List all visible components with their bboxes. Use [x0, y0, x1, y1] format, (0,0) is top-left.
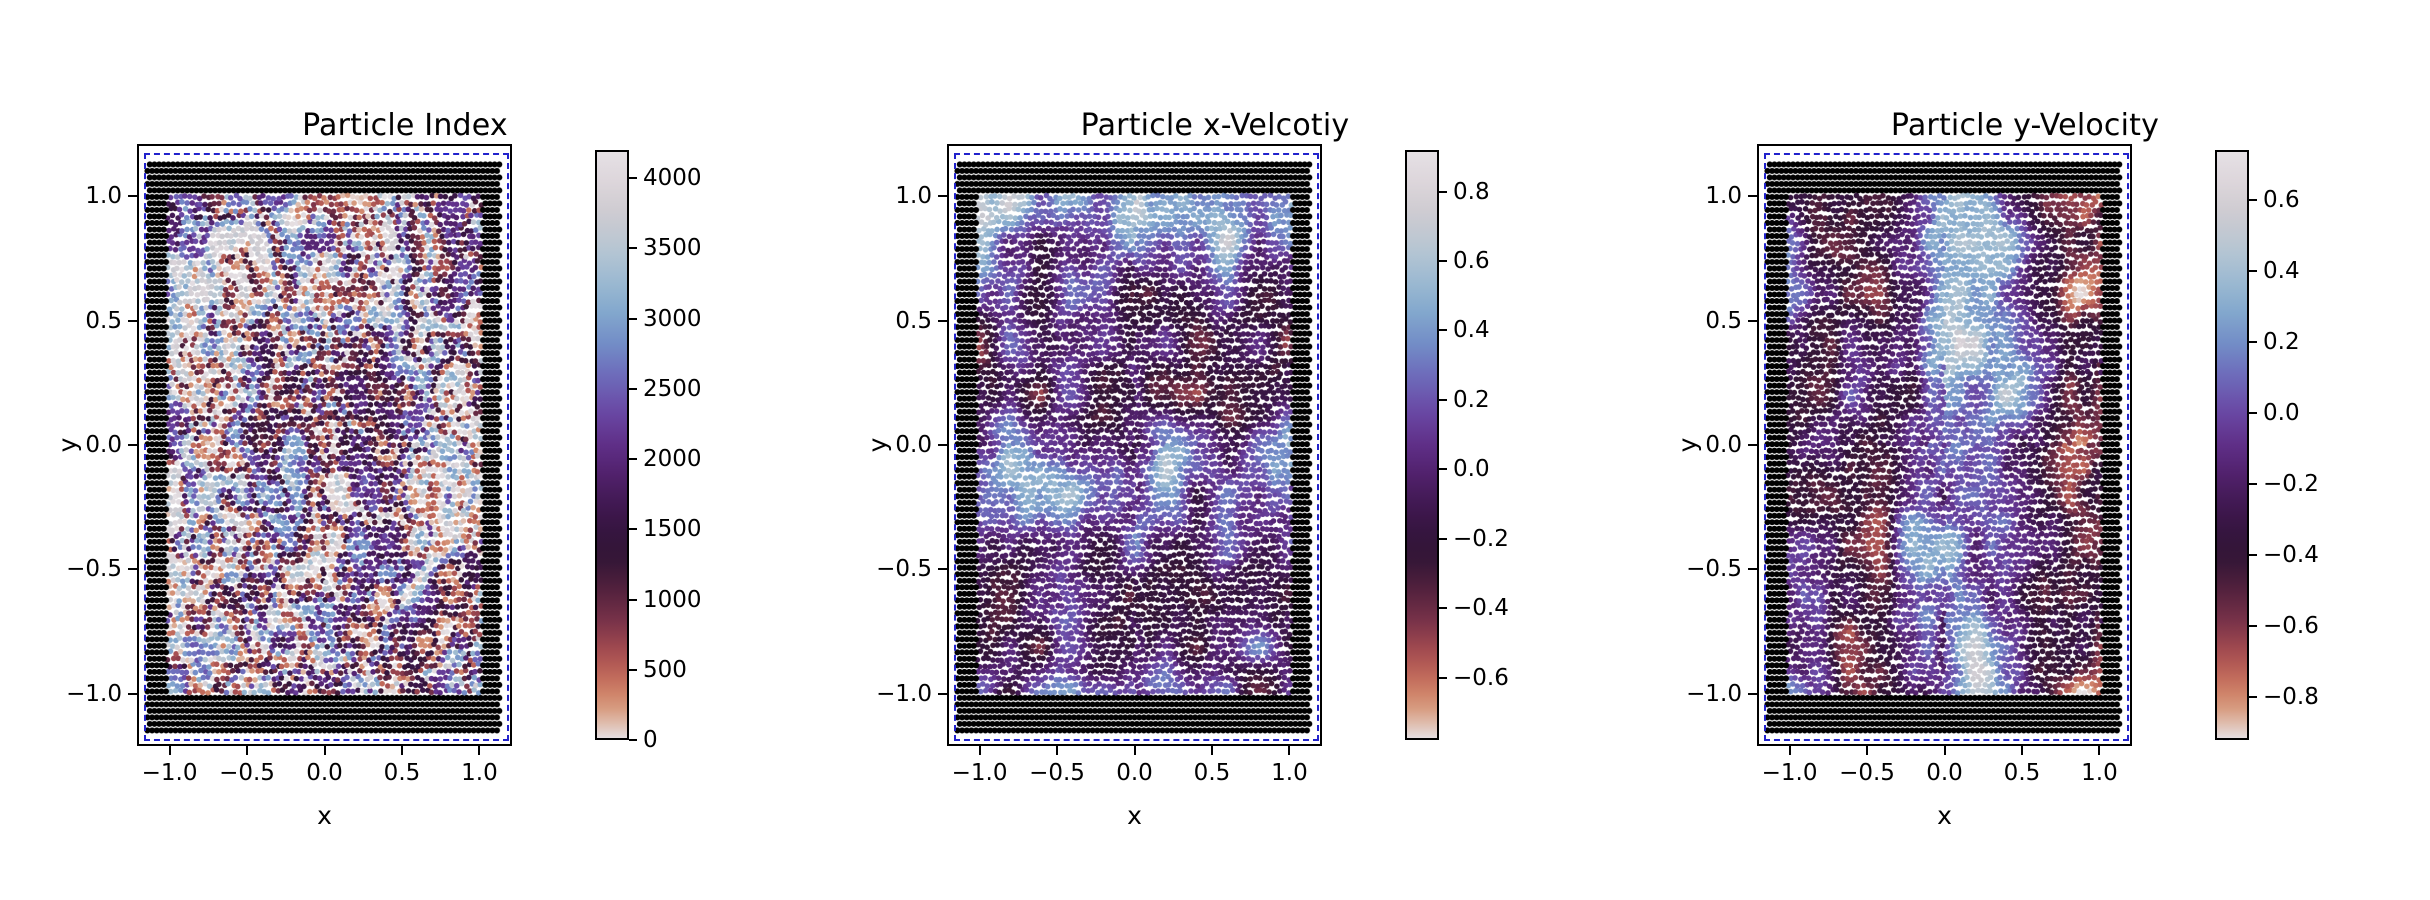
y-tick-mark [1748, 320, 1757, 322]
y-tick-label: 0.5 [1705, 308, 1742, 334]
x-tick-mark [1789, 746, 1791, 755]
y-tick-mark [938, 195, 947, 197]
particle-scatter [139, 146, 510, 744]
subplot-title: Particle y-Velocity [1620, 108, 2430, 143]
colorbar-tick-label: 3500 [643, 235, 702, 261]
subplot-2: Particle x-Velcotiy−1.0−0.50.00.51.0−1.0… [810, 0, 1620, 900]
x-tick-label: 1.0 [461, 760, 498, 786]
colorbar-tick-mark [629, 528, 637, 530]
y-tick-mark [1748, 568, 1757, 570]
colorbar-tick-mark [2249, 696, 2257, 698]
axes-area [1757, 144, 2132, 746]
x-tick-mark [324, 746, 326, 755]
colorbar-gradient [1407, 152, 1437, 738]
x-tick-label: −1.0 [952, 760, 1008, 786]
y-tick-mark [128, 320, 137, 322]
y-tick-mark [128, 568, 137, 570]
colorbar [2215, 150, 2249, 740]
y-tick-label: −1.0 [876, 681, 932, 707]
matplotlib-figure: Particle Index−1.0−0.50.00.51.0−1.0−0.50… [0, 0, 2430, 900]
colorbar-tick-mark [1439, 399, 1447, 401]
x-tick-mark [1944, 746, 1946, 755]
colorbar-tick-mark [629, 739, 637, 741]
y-axis-label: y [1673, 438, 1702, 453]
x-tick-label: 0.5 [384, 760, 421, 786]
y-tick-label: −0.5 [66, 556, 122, 582]
x-axis-label: x [1937, 801, 1952, 830]
x-tick-mark [246, 746, 248, 755]
x-tick-mark [1134, 746, 1136, 755]
colorbar-tick-label: 2000 [643, 446, 702, 472]
x-tick-mark [1866, 746, 1868, 755]
y-tick-label: −1.0 [66, 681, 122, 707]
y-tick-label: 1.0 [1705, 183, 1742, 209]
y-tick-mark [938, 568, 947, 570]
colorbar-tick-label: −0.2 [1453, 526, 1509, 552]
y-tick-label: −1.0 [1686, 681, 1742, 707]
colorbar-gradient [597, 152, 627, 738]
colorbar-tick-mark [2249, 483, 2257, 485]
y-tick-mark [938, 320, 947, 322]
y-axis-label: y [863, 438, 892, 453]
colorbar-tick-mark [2249, 412, 2257, 414]
subplot-title: Particle Index [0, 108, 810, 143]
x-tick-label: 0.0 [306, 760, 343, 786]
colorbar-tick-mark [1439, 538, 1447, 540]
colorbar-tick-label: 4000 [643, 165, 702, 191]
x-tick-mark [169, 746, 171, 755]
y-axis-label: y [53, 438, 82, 453]
colorbar-tick-mark [2249, 554, 2257, 556]
colorbar-tick-mark [1439, 677, 1447, 679]
particle-scatter [1759, 146, 2130, 744]
colorbar-tick-mark [2249, 199, 2257, 201]
colorbar [595, 150, 629, 740]
x-tick-mark [1211, 746, 1213, 755]
colorbar-tick-label: 0.4 [2263, 258, 2300, 284]
x-tick-label: 0.0 [1926, 760, 1963, 786]
colorbar-tick-label: −0.8 [2263, 684, 2319, 710]
colorbar-tick-mark [1439, 607, 1447, 609]
y-tick-mark [128, 693, 137, 695]
colorbar-tick-label: −0.4 [1453, 595, 1509, 621]
subplot-title: Particle x-Velcotiy [810, 108, 1620, 143]
colorbar-tick-label: 0.0 [2263, 400, 2300, 426]
y-tick-label: 0.0 [895, 432, 932, 458]
subplot-1: Particle Index−1.0−0.50.00.51.0−1.0−0.50… [0, 0, 810, 900]
x-tick-label: −0.5 [1029, 760, 1085, 786]
y-tick-mark [938, 693, 947, 695]
colorbar-tick-label: −0.2 [2263, 471, 2319, 497]
x-tick-label: −0.5 [1839, 760, 1895, 786]
colorbar-tick-mark [629, 247, 637, 249]
x-tick-mark [478, 746, 480, 755]
x-tick-mark [2098, 746, 2100, 755]
y-tick-label: 1.0 [85, 183, 122, 209]
colorbar-tick-label: 500 [643, 657, 687, 683]
x-tick-label: 0.0 [1116, 760, 1153, 786]
colorbar-tick-mark [1439, 260, 1447, 262]
y-tick-mark [938, 444, 947, 446]
colorbar-tick-mark [1439, 191, 1447, 193]
x-tick-mark [1056, 746, 1058, 755]
x-tick-label: −0.5 [219, 760, 275, 786]
colorbar-tick-label: −0.6 [1453, 665, 1509, 691]
y-tick-mark [1748, 195, 1757, 197]
colorbar-tick-mark [2249, 270, 2257, 272]
colorbar-tick-mark [629, 458, 637, 460]
colorbar-tick-mark [629, 177, 637, 179]
y-tick-mark [1748, 444, 1757, 446]
x-axis-label: x [1127, 801, 1142, 830]
colorbar-tick-label: 0.8 [1453, 179, 1490, 205]
y-tick-label: −0.5 [876, 556, 932, 582]
x-tick-mark [1288, 746, 1290, 755]
colorbar-tick-mark [1439, 329, 1447, 331]
axes-area [137, 144, 512, 746]
y-tick-mark [1748, 693, 1757, 695]
particle-scatter [949, 146, 1320, 744]
x-tick-label: 1.0 [2081, 760, 2118, 786]
y-tick-label: 0.5 [85, 308, 122, 334]
colorbar-tick-mark [2249, 341, 2257, 343]
x-axis-label: x [317, 801, 332, 830]
colorbar-tick-label: 0.2 [2263, 329, 2300, 355]
x-tick-mark [2021, 746, 2023, 755]
colorbar-tick-label: 0.6 [1453, 248, 1490, 274]
colorbar-tick-mark [629, 388, 637, 390]
colorbar-tick-label: 2500 [643, 376, 702, 402]
y-tick-label: 0.5 [895, 308, 932, 334]
x-tick-mark [979, 746, 981, 755]
colorbar-tick-label: 0.2 [1453, 387, 1490, 413]
subplot-3: Particle y-Velocity−1.0−0.50.00.51.0−1.0… [1620, 0, 2430, 900]
colorbar-gradient [2217, 152, 2247, 738]
colorbar-tick-label: 0.0 [1453, 456, 1490, 482]
x-tick-label: −1.0 [1762, 760, 1818, 786]
x-tick-label: −1.0 [142, 760, 198, 786]
y-tick-mark [128, 444, 137, 446]
y-tick-label: 1.0 [895, 183, 932, 209]
colorbar-tick-label: −0.6 [2263, 613, 2319, 639]
y-tick-mark [128, 195, 137, 197]
y-tick-label: 0.0 [1705, 432, 1742, 458]
colorbar-tick-mark [629, 318, 637, 320]
colorbar-tick-label: 0.6 [2263, 187, 2300, 213]
colorbar-tick-label: 0 [643, 727, 658, 753]
colorbar-tick-mark [629, 599, 637, 601]
colorbar-tick-label: 0.4 [1453, 317, 1490, 343]
x-tick-label: 1.0 [1271, 760, 1308, 786]
x-tick-label: 0.5 [2004, 760, 2041, 786]
x-tick-mark [401, 746, 403, 755]
x-tick-label: 0.5 [1194, 760, 1231, 786]
colorbar-tick-label: 1000 [643, 587, 702, 613]
colorbar [1405, 150, 1439, 740]
y-tick-label: 0.0 [85, 432, 122, 458]
colorbar-tick-label: 3000 [643, 306, 702, 332]
colorbar-tick-label: 1500 [643, 516, 702, 542]
y-tick-label: −0.5 [1686, 556, 1742, 582]
colorbar-tick-mark [629, 669, 637, 671]
colorbar-tick-mark [2249, 625, 2257, 627]
colorbar-tick-mark [1439, 468, 1447, 470]
axes-area [947, 144, 1322, 746]
colorbar-tick-label: −0.4 [2263, 542, 2319, 568]
